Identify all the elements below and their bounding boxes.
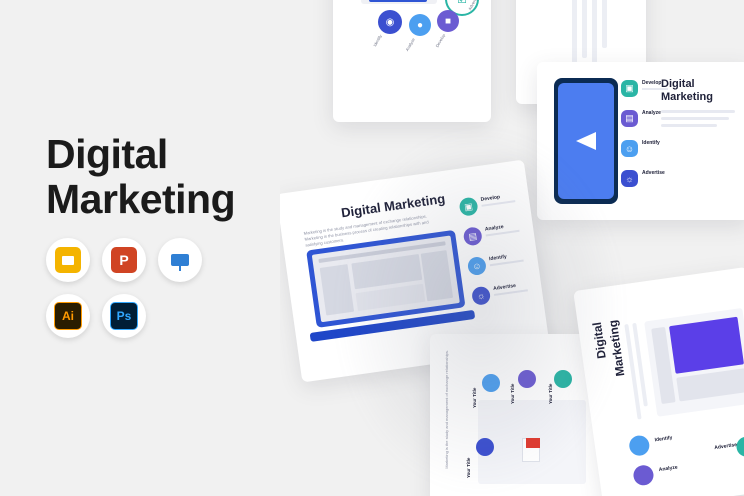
slide3-body-line-3: [661, 124, 717, 127]
photoshop-icon: Ps: [110, 302, 138, 330]
title-line-1: Digital: [46, 132, 276, 177]
slide3-title-line2: Marketing: [661, 91, 713, 103]
illustrator-icon: Ai: [54, 302, 82, 330]
powerpoint-badge[interactable]: P: [102, 238, 146, 282]
slide1-step-icon-1: ◉: [378, 10, 402, 34]
poster-canvas: ☑ ◉ ● ■ Identify Analyze Develop Adverti…: [0, 0, 744, 496]
google-slides-badge[interactable]: [46, 238, 90, 282]
slide-infographic-circle[interactable]: ☑ ◉ ● ■ Identify Analyze Develop Adverti…: [333, 0, 491, 122]
slide6-step-icon-1: [628, 434, 651, 457]
illustrator-badge[interactable]: Ai: [46, 294, 90, 338]
powerpoint-icon: P: [111, 247, 137, 273]
keynote-badge[interactable]: [158, 238, 202, 282]
format-badges: P Ai Ps: [46, 238, 266, 350]
slide3-body-line-2: [661, 117, 729, 120]
slide1-step-label-2: Analyze: [404, 37, 415, 52]
keynote-icon: [167, 247, 193, 273]
slide6-step-label-3: Advertise: [714, 442, 737, 451]
slide2-text-col-2: [582, 0, 587, 58]
background-shadow: [330, 120, 630, 496]
title-line-2: Marketing: [46, 177, 276, 222]
photoshop-badge[interactable]: Ps: [102, 294, 146, 338]
slide2-text-col-1: [572, 0, 577, 70]
slide1-blue-bar: [369, 0, 427, 2]
slide3-step-label-1: Develop: [642, 80, 661, 86]
slide1-step-label-3: Develop: [435, 33, 447, 48]
slide6-browser-hero: [669, 317, 744, 374]
slide3-body-line-1: [661, 110, 735, 113]
slide1-step-icon-2: ●: [409, 14, 431, 36]
slide2-text-col-3: [592, 0, 597, 66]
slide1-step-label-1: Identify: [372, 34, 383, 48]
slide3-step-icon-1: ▣: [621, 80, 638, 97]
left-panel: Digital Marketing P: [0, 0, 280, 496]
slide6-step-label-1: Identify: [654, 435, 672, 443]
slide6-step-icon-2: [632, 464, 655, 487]
google-slides-icon: [55, 247, 81, 273]
slide3-step-label-2: Analyze: [642, 110, 661, 116]
slide3-step-rule-1: [642, 88, 668, 90]
slide6-step-label-2: Analyze: [658, 464, 678, 473]
page-title: Digital Marketing: [46, 132, 276, 222]
format-badge-row-1: P: [46, 238, 266, 282]
slide3-step-label-3: Identify: [642, 140, 660, 146]
slide2-text-col-4: [602, 0, 607, 48]
format-badge-row-2: Ai Ps: [46, 294, 266, 338]
slide1-step-icon-3: ■: [437, 10, 459, 32]
slide3-step-label-4: Advertise: [642, 170, 665, 176]
